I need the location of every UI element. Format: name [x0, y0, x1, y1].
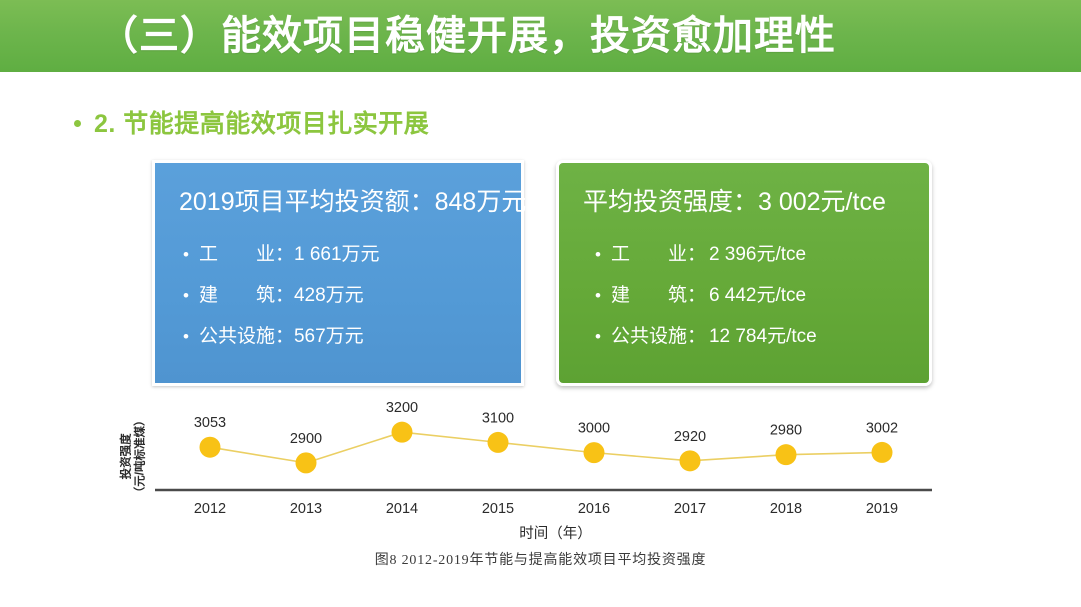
- chart-data-label: 3000: [578, 421, 610, 437]
- chart-x-tick-label: 2013: [290, 501, 322, 517]
- chart-y-axis-title: 投资强度 （元/吨标准煤）: [104, 404, 164, 508]
- chart-data-label: 3002: [866, 420, 898, 436]
- y-axis-title-line-2: （元/吨标准煤）: [134, 414, 148, 498]
- list-item: • 工 业： 2 396元/tce: [583, 239, 905, 266]
- chart-x-tick-label: 2012: [194, 501, 226, 517]
- card-heading: 2019项目平均投资额：848万元: [179, 189, 497, 217]
- chart-x-axis-title: 时间（年）: [0, 522, 1081, 543]
- list-item-value: 12 784元/tce: [709, 321, 817, 348]
- y-axis-title-line-1: 投资强度: [120, 414, 134, 498]
- list-item-label: 建 筑：: [611, 280, 709, 307]
- chart-data-point: [776, 444, 797, 465]
- section-subtitle: 2. 节能提高能效项目扎实开展: [74, 104, 429, 140]
- chart-data-label: 3200: [386, 400, 418, 416]
- chart-data-label: 2900: [290, 431, 322, 447]
- bullet-icon: •: [595, 246, 601, 263]
- list-item: • 公共设施： 567万元: [179, 321, 497, 348]
- list-item: • 公共设施： 12 784元/tce: [583, 321, 905, 348]
- list-item-label: 工 业：: [199, 239, 294, 266]
- bullet-icon: •: [183, 287, 189, 304]
- list-item-label: 工 业：: [611, 239, 709, 266]
- chart-data-point: [296, 452, 317, 473]
- chart-x-tick-label: 2017: [674, 501, 706, 517]
- chart-x-tick-label: 2016: [578, 501, 610, 517]
- chart-data-label: 3100: [482, 410, 514, 426]
- bullet-icon: •: [595, 287, 601, 304]
- list-item: • 工 业： 1 661万元: [179, 239, 497, 266]
- bullet-icon: •: [183, 328, 189, 345]
- chart-data-point: [680, 450, 701, 471]
- bullet-dot-icon: [74, 120, 81, 127]
- card-item-list: • 工 业： 2 396元/tce • 建 筑： 6 442元/tce • 公共…: [583, 239, 905, 348]
- list-item: • 建 筑： 6 442元/tce: [583, 280, 905, 307]
- chart-data-point: [488, 432, 509, 453]
- chart-data-point: [392, 422, 413, 443]
- card-heading: 平均投资强度：3 002元/tce: [583, 189, 905, 217]
- chart-x-tick-label: 2018: [770, 501, 802, 517]
- chart-data-label: 2980: [770, 423, 802, 439]
- list-item-value: 428万元: [294, 280, 364, 307]
- section-subtitle-label: 2. 节能提高能效项目扎实开展: [94, 104, 429, 140]
- chart-data-point: [584, 442, 605, 463]
- chart-data-label: 2920: [674, 429, 706, 445]
- card-average-investment: 2019项目平均投资额：848万元 • 工 业： 1 661万元 • 建 筑： …: [152, 160, 524, 386]
- list-item-value: 6 442元/tce: [709, 280, 806, 307]
- card-item-list: • 工 业： 1 661万元 • 建 筑： 428万元 • 公共设施： 567万…: [179, 239, 497, 348]
- list-item-value: 567万元: [294, 321, 364, 348]
- figure-caption: 图8 2012-2019年节能与提高能效项目平均投资强度: [0, 549, 1081, 569]
- list-item-value: 1 661万元: [294, 239, 380, 266]
- bullet-icon: •: [183, 246, 189, 263]
- list-item-value: 2 396元/tce: [709, 239, 806, 266]
- list-item: • 建 筑： 428万元: [179, 280, 497, 307]
- chart-x-tick-label: 2015: [482, 501, 514, 517]
- chart-data-point: [872, 442, 893, 463]
- chart-x-tick-label: 2014: [386, 501, 418, 517]
- chart-data-point: [200, 437, 221, 458]
- page-title: （三）能效项目稳健开展，投资愈加理性: [98, 16, 836, 56]
- header-band: （三）能效项目稳健开展，投资愈加理性: [0, 0, 1081, 72]
- chart-data-label: 3053: [194, 415, 226, 431]
- list-item-label: 公共设施：: [611, 321, 709, 348]
- card-average-intensity: 平均投资强度：3 002元/tce • 工 业： 2 396元/tce • 建 …: [556, 160, 932, 386]
- bullet-icon: •: [595, 328, 601, 345]
- list-item-label: 建 筑：: [199, 280, 294, 307]
- chart-x-tick-label: 2019: [866, 501, 898, 517]
- list-item-label: 公共设施：: [199, 321, 294, 348]
